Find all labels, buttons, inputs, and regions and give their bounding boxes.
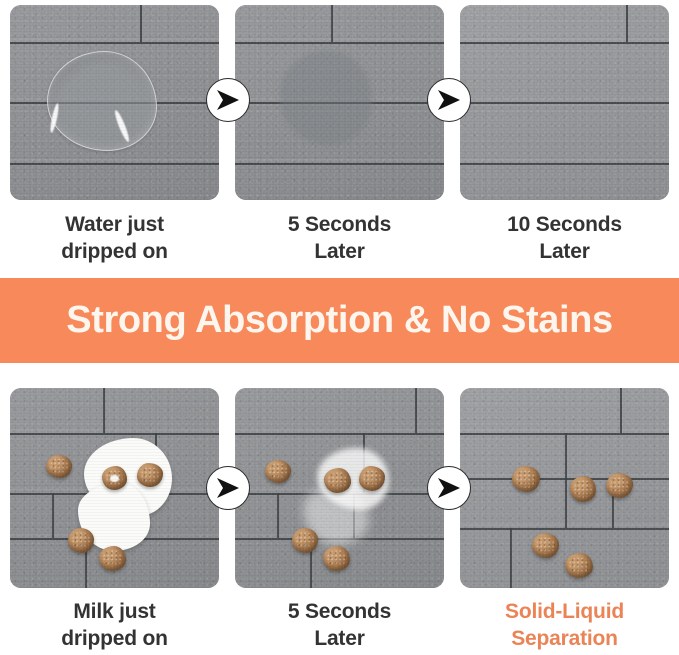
grout-seam-horizontal: [235, 42, 444, 44]
caption-line: 5 Seconds: [235, 599, 444, 626]
grout-seam-vertical: [103, 388, 105, 433]
milk-droplet-on-kibble: [110, 475, 119, 482]
kibble-piece: [570, 476, 596, 502]
kibble-texture: [141, 467, 159, 483]
grout-seam-vertical: [277, 493, 279, 538]
grout-seam-vertical: [331, 5, 333, 42]
caption-water-step-3: 10 Seconds Later: [460, 212, 669, 266]
caption-milk-step-2: 5 Seconds Later: [235, 599, 444, 653]
kibble-texture: [72, 532, 90, 549]
kibble-texture: [363, 470, 381, 487]
droplet-highlight: [113, 109, 131, 143]
kibble-piece: [46, 455, 72, 478]
caption-line: Milk just: [10, 599, 219, 626]
caption-line: 5 Seconds: [235, 212, 444, 239]
water-panel-damp-patch: [235, 5, 444, 200]
kibble-piece: [359, 466, 385, 491]
water-sequence-captions: Water just dripped on 5 Seconds Later 10…: [0, 212, 679, 266]
kibble-texture: [610, 477, 628, 494]
kibble-texture: [296, 532, 314, 549]
kibble-texture: [569, 557, 588, 574]
kibble-texture: [103, 550, 121, 567]
water-panel-fresh-droplet: [10, 5, 219, 200]
caption-line: dripped on: [10, 626, 219, 653]
caption-milk-step-3: Solid-Liquid Separation: [460, 599, 669, 653]
chevron-right-icon: [427, 466, 471, 510]
kibble-piece: [292, 528, 318, 553]
caption-water-step-1: Water just dripped on: [10, 212, 219, 266]
kibble-piece: [99, 546, 126, 571]
grout-seam-horizontal: [235, 433, 444, 435]
grout-seam-vertical: [140, 5, 142, 42]
kibble-piece: [68, 528, 94, 553]
caption-water-step-2: 5 Seconds Later: [235, 212, 444, 266]
caption-line: Later: [235, 239, 444, 266]
kibble-texture: [50, 458, 68, 474]
caption-line: Water just: [10, 212, 219, 239]
grout-seam-horizontal: [10, 163, 219, 165]
water-droplet: [47, 51, 157, 151]
milk-panel-fresh-spill: [10, 388, 219, 588]
kibble-piece: [532, 533, 559, 558]
grout-seam-horizontal: [460, 42, 669, 44]
kibble-texture: [327, 550, 345, 567]
caption-line: Later: [235, 626, 444, 653]
kibble-piece: [323, 546, 350, 571]
kibble-texture: [516, 470, 535, 488]
grout-seam-vertical: [626, 5, 628, 42]
kibble-piece: [137, 463, 163, 487]
grout-seam-horizontal: [460, 102, 669, 104]
milk-panel-separated: [460, 388, 669, 588]
kibble-piece: [606, 473, 633, 498]
grout-seam-horizontal: [460, 163, 669, 165]
chevron-right-icon: [427, 78, 471, 122]
grout-seam-horizontal: [460, 528, 669, 530]
kibble-piece: [565, 553, 593, 578]
chevron-right-icon: [206, 78, 250, 122]
milk-sequence-panels: [0, 388, 679, 588]
caption-milk-step-1: Milk just dripped on: [10, 599, 219, 653]
absorption-infographic: Water just dripped on 5 Seconds Later 10…: [0, 0, 679, 655]
spacer: [0, 363, 679, 388]
milk-sequence-captions: Milk just dripped on 5 Seconds Later Sol…: [0, 599, 679, 653]
kibble-piece: [324, 468, 351, 493]
kibble-texture: [269, 463, 287, 479]
kibble-texture: [574, 480, 592, 498]
kibble-texture: [536, 537, 554, 554]
grout-seam-vertical: [415, 388, 417, 433]
caption-line: Separation: [460, 626, 669, 653]
water-sequence-panels: [0, 0, 679, 200]
grout-seam-vertical: [510, 528, 512, 588]
headline-text: Strong Absorption & No Stains: [66, 299, 612, 342]
caption-line: dripped on: [10, 239, 219, 266]
caption-line: Later: [460, 239, 669, 266]
grout-seam-vertical: [52, 493, 54, 538]
grout-seam-vertical: [620, 388, 622, 433]
grout-seam-horizontal: [235, 163, 444, 165]
kibble-texture: [328, 472, 346, 489]
kibble-piece: [512, 466, 540, 492]
headline-banner: Strong Absorption & No Stains: [0, 278, 679, 363]
milk-panel-absorbing: [235, 388, 444, 588]
kibble-piece: [265, 460, 291, 483]
grout-seam-vertical: [565, 433, 567, 528]
damp-patch: [280, 51, 372, 145]
kibble-piece: [102, 466, 127, 490]
caption-line: Solid-Liquid: [460, 599, 669, 626]
grout-seam-horizontal: [10, 42, 219, 44]
caption-line: 10 Seconds: [460, 212, 669, 239]
water-panel-fully-dry: [460, 5, 669, 200]
chevron-right-icon: [206, 466, 250, 510]
grout-seam-horizontal: [10, 433, 219, 435]
